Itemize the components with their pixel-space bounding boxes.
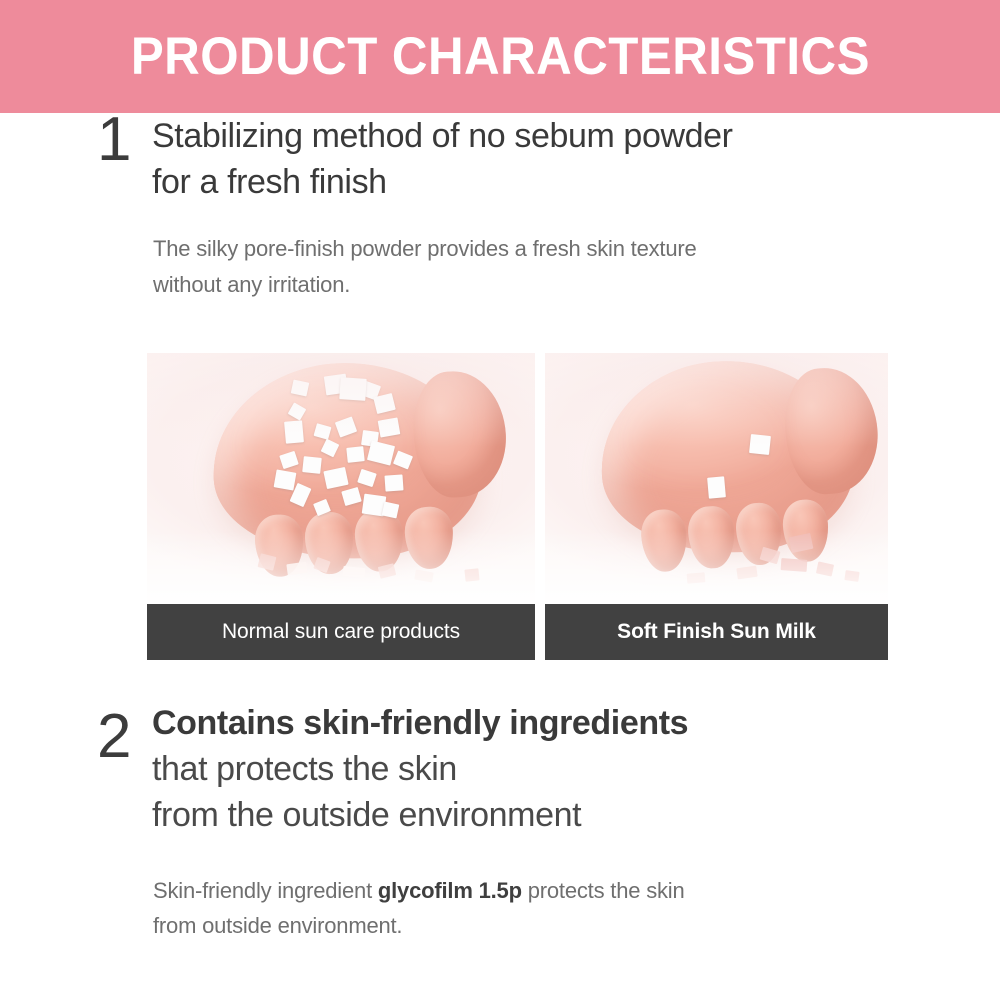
powder-flake bbox=[384, 474, 403, 491]
caption-soft-finish-sun-milk: Soft Finish Sun Milk bbox=[545, 604, 888, 660]
section-1-body-line-1: The silky pore-finish powder provides a … bbox=[153, 231, 913, 267]
page-title: PRODUCT CHARACTERISTICS bbox=[130, 30, 869, 83]
section-1-heading-line-1: Stabilizing method of no sebum powder bbox=[152, 113, 1000, 159]
powder-debris bbox=[343, 566, 366, 578]
powder-flake bbox=[382, 502, 400, 519]
powder-debris bbox=[781, 558, 808, 572]
knuckle bbox=[353, 508, 404, 572]
powder-flake bbox=[378, 417, 401, 437]
wrist-shape bbox=[781, 365, 882, 497]
powder-flake bbox=[339, 377, 366, 401]
powder-debris bbox=[844, 570, 859, 582]
body-prefix: Skin-friendly ingredient bbox=[153, 878, 378, 903]
section-2-heading-line-2: that protects the skin bbox=[152, 746, 1000, 792]
powder-flake bbox=[749, 434, 771, 455]
section-2-heading-line-3: from the outside environment bbox=[152, 792, 1000, 838]
characteristic-section-2: 2 Contains skin-friendly ingredients tha… bbox=[0, 700, 1000, 944]
section-1-number: 1 bbox=[97, 109, 130, 171]
body-suffix: protects the skin bbox=[522, 878, 685, 903]
wrist-shape bbox=[411, 369, 509, 500]
knuckle bbox=[687, 505, 736, 570]
characteristic-section-1: 1 Stabilizing method of no sebum powder … bbox=[0, 113, 1000, 303]
powder-flake bbox=[291, 379, 310, 396]
powder-flake bbox=[707, 476, 726, 498]
fist-illustration bbox=[595, 353, 860, 562]
powder-debris bbox=[414, 570, 433, 583]
section-1-body-line-2: without any irritation. bbox=[153, 267, 913, 303]
powder-flake bbox=[302, 456, 322, 474]
powder-flake bbox=[346, 446, 364, 463]
section-2-heading-line-1: Contains skin-friendly ingredients bbox=[152, 700, 1000, 746]
powder-debris bbox=[378, 563, 396, 579]
body-emphasis-glycofilm: glycofilm 1.5p bbox=[378, 878, 522, 903]
section-2-number: 2 bbox=[97, 706, 130, 768]
comparison-panels: Normal sun care products bbox=[147, 353, 888, 660]
powder-debris bbox=[464, 568, 479, 581]
photo-normal-sun-care bbox=[147, 353, 535, 600]
caption-normal-sun-care: Normal sun care products bbox=[147, 604, 535, 660]
section-2-body-line-1: Skin-friendly ingredient glycofilm 1.5p … bbox=[153, 873, 913, 909]
powder-debris bbox=[687, 572, 706, 584]
section-2-body-line-2: from outside environment. bbox=[153, 908, 913, 944]
section-2-body: Skin-friendly ingredient glycofilm 1.5p … bbox=[153, 873, 913, 944]
powder-flake bbox=[274, 469, 297, 490]
powder-debris bbox=[816, 561, 834, 576]
section-2-heading-row: 2 Contains skin-friendly ingredients tha… bbox=[0, 700, 1000, 839]
section-1-heading-line-2: for a fresh finish bbox=[152, 159, 1000, 205]
powder-flake bbox=[284, 420, 304, 443]
section-1-heading: Stabilizing method of no sebum powder fo… bbox=[152, 113, 1000, 205]
photo-soft-finish-sun-milk bbox=[545, 353, 888, 600]
section-1-body: The silky pore-finish powder provides a … bbox=[153, 231, 913, 302]
powder-debris bbox=[736, 566, 757, 580]
section-2-heading: Contains skin-friendly ingredients that … bbox=[152, 700, 1000, 839]
knuckle bbox=[781, 498, 830, 563]
section-1-heading-row: 1 Stabilizing method of no sebum powder … bbox=[0, 113, 1000, 205]
comparison-panel-right: Soft Finish Sun Milk bbox=[545, 353, 888, 660]
page-header-banner: PRODUCT CHARACTERISTICS bbox=[0, 0, 1000, 113]
knuckle bbox=[640, 508, 689, 573]
knuckle bbox=[403, 506, 454, 570]
comparison-panel-left: Normal sun care products bbox=[147, 353, 535, 660]
